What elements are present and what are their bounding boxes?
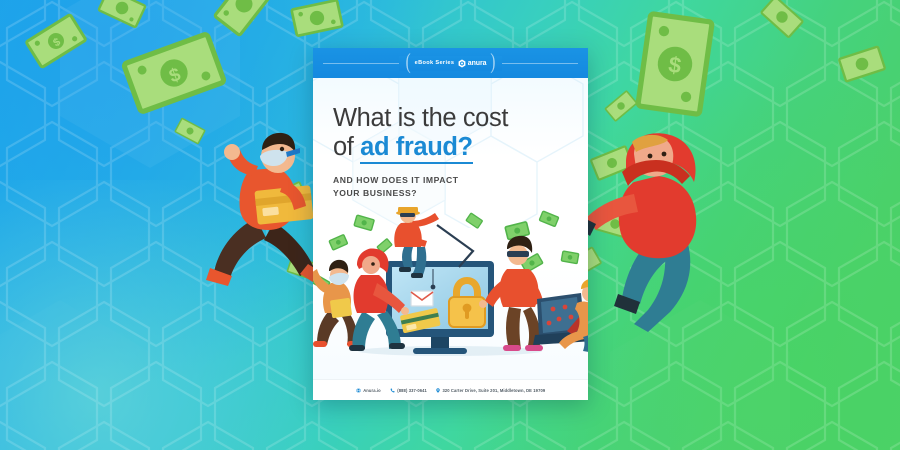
svg-text:$: $: [51, 36, 63, 49]
ebook-cover-card[interactable]: ( eBook Series anura ): [313, 48, 588, 400]
svg-text:$: $: [667, 52, 683, 79]
money-bill-icon: [837, 44, 887, 84]
money-bill-icon: [211, 0, 276, 39]
headline-accent: ad fraud?: [360, 133, 473, 164]
ad-fraud-illustration: [313, 207, 588, 357]
bracket-left-icon: (: [406, 52, 411, 74]
headline-line-1: What is the cost: [333, 104, 588, 133]
footer-address-text: 320 Carter Drive, Suite 201, Middletown,…: [442, 388, 545, 393]
footer-website-text: Anura.io: [363, 388, 381, 393]
cover-footer: Anura.io (888) 337-0641 320 Carter Drive…: [313, 379, 588, 400]
headline-line-2-plain: of: [333, 133, 360, 161]
anura-hex-logo-icon: [458, 59, 466, 68]
globe-icon: [356, 388, 361, 393]
money-bill-icon: $: [23, 12, 89, 71]
banner-canvas: $ $ $: [0, 0, 900, 450]
cover-top-bar: ( eBook Series anura ): [313, 48, 588, 78]
hooded-thief-pulling: [578, 128, 718, 332]
series-lockup: ( eBook Series anura ): [399, 56, 503, 71]
series-label: eBook Series: [415, 60, 455, 66]
phone-icon: [390, 388, 395, 393]
cover-text-block: What is the cost of ad fraud? AND HOW DO…: [313, 78, 588, 201]
brand-name: anura: [468, 60, 487, 67]
money-bill-icon: [96, 0, 148, 30]
money-bill-icon: [289, 0, 345, 39]
money-bill-icon: [603, 89, 639, 124]
brand-lockup: anura: [458, 59, 486, 68]
envelope-icon: [411, 291, 433, 306]
subhead-line-1: AND HOW DOES IT IMPACT: [333, 174, 523, 187]
footer-item-address[interactable]: 320 Carter Drive, Suite 201, Middletown,…: [436, 388, 545, 393]
footer-phone-text: (888) 337-0641: [397, 388, 427, 393]
location-pin-icon: [436, 388, 440, 393]
subhead-line-2: YOUR BUSINESS?: [333, 187, 523, 200]
money-bill-icon: $: [633, 10, 716, 119]
cover-body: What is the cost of ad fraud? AND HOW DO…: [313, 78, 588, 379]
headline-line-2: of ad fraud?: [333, 133, 588, 162]
svg-text:$: $: [166, 63, 184, 86]
money-bill-icon: $: [119, 29, 229, 116]
laptop-hacker-icon: [533, 278, 588, 353]
page-title: What is the cost of ad fraud?: [333, 104, 588, 161]
page-subtitle: AND HOW DOES IT IMPACT YOUR BUSINESS?: [333, 174, 523, 201]
footer-item-website[interactable]: Anura.io: [356, 388, 381, 393]
footer-item-phone[interactable]: (888) 337-0641: [390, 388, 427, 393]
bracket-right-icon: ): [490, 52, 495, 74]
money-bill-icon: [758, 0, 805, 40]
